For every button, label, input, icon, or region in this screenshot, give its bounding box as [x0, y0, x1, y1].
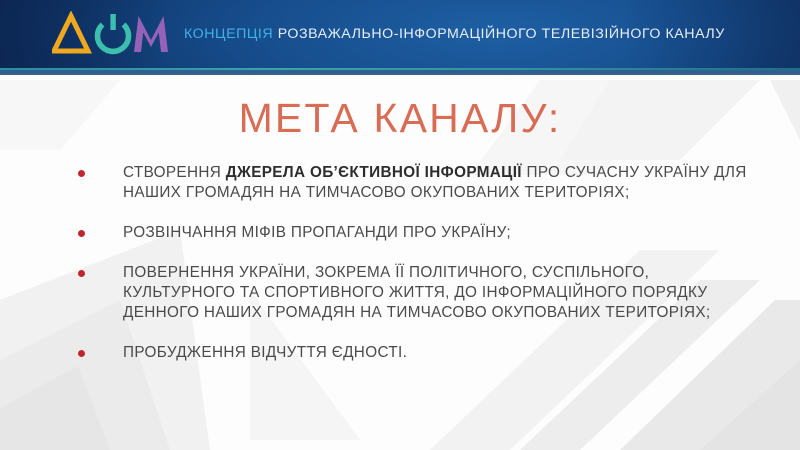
list-item-text: ПОВЕРНЕННЯ УКРАЇНИ, ЗОКРЕМА ЇЇ ПОЛІТИЧНО…: [123, 264, 711, 321]
bullet-dot-icon: [78, 170, 85, 177]
list-item: РОЗВІНЧАННЯ МІФІВ ПРОПАГАНДИ ПРО УКРАЇНУ…: [78, 223, 758, 243]
list-item-label: СТВОРЕННЯ ДЖЕРЕЛА ОБ’ЄКТИВНОЇ ІНФОРМАЦІЇ…: [123, 163, 758, 203]
header-title-rest: РОЗВАЖАЛЬНО-ІНФОРМАЦІЙНОГО ТЕЛЕВІЗІЙНОГО…: [278, 26, 725, 42]
page-title: МЕТА КАНАЛУ:: [0, 98, 800, 139]
list-item: ПРОБУДЖЕННЯ ВІДЧУТТЯ ЄДНОСТІ.: [78, 343, 758, 363]
list-item: ПОВЕРНЕННЯ УКРАЇНИ, ЗОКРЕМА ЇЇ ПОЛІТИЧНО…: [78, 263, 758, 323]
presentation-slide: КОНЦЕПЦІЯ РОЗВАЖАЛЬНО-ІНФОРМАЦІЙНОГО ТЕЛ…: [0, 0, 800, 450]
bullet-dot-icon: [78, 230, 85, 237]
logo-letter-m: [134, 16, 168, 52]
list-item-label: ПОВЕРНЕННЯ УКРАЇНИ, ЗОКРЕМА ЇЇ ПОЛІТИЧНО…: [123, 263, 758, 323]
list-item-text: ПРОБУДЖЕННЯ ВІДЧУТТЯ ЄДНОСТІ.: [123, 344, 407, 361]
bullet-dot-icon: [78, 350, 85, 357]
dom-logo: [52, 11, 172, 57]
triangle-icon: [54, 16, 88, 51]
list-item-label: ПРОБУДЖЕННЯ ВІДЧУТТЯ ЄДНОСТІ.: [123, 343, 758, 363]
header-accent-white-line: [0, 75, 800, 77]
power-icon: [98, 14, 129, 51]
header-title-emphasis: КОНЦЕПЦІЯ: [184, 26, 273, 42]
slide-header-bar: КОНЦЕПЦІЯ РОЗВАЖАЛЬНО-ІНФОРМАЦІЙНОГО ТЕЛ…: [0, 0, 800, 68]
list-item-label: РОЗВІНЧАННЯ МІФІВ ПРОПАГАНДИ ПРО УКРАЇНУ…: [123, 223, 758, 243]
bullet-dot-icon: [78, 270, 85, 277]
list-item-emphasis: ДЖЕРЕЛА ОБ’ЄКТИВНОЇ ІНФОРМАЦІЇ: [226, 164, 522, 181]
header-title: КОНЦЕПЦІЯ РОЗВАЖАЛЬНО-ІНФОРМАЦІЙНОГО ТЕЛ…: [184, 26, 725, 42]
list-item-text: РОЗВІНЧАННЯ МІФІВ ПРОПАГАНДИ ПРО УКРАЇНУ…: [123, 224, 511, 241]
list-item: СТВОРЕННЯ ДЖЕРЕЛА ОБ’ЄКТИВНОЇ ІНФОРМАЦІЇ…: [78, 163, 758, 203]
goals-bullet-list: СТВОРЕННЯ ДЖЕРЕЛА ОБ’ЄКТИВНОЇ ІНФОРМАЦІЇ…: [78, 163, 758, 363]
list-item-text: СТВОРЕННЯ: [123, 164, 226, 181]
